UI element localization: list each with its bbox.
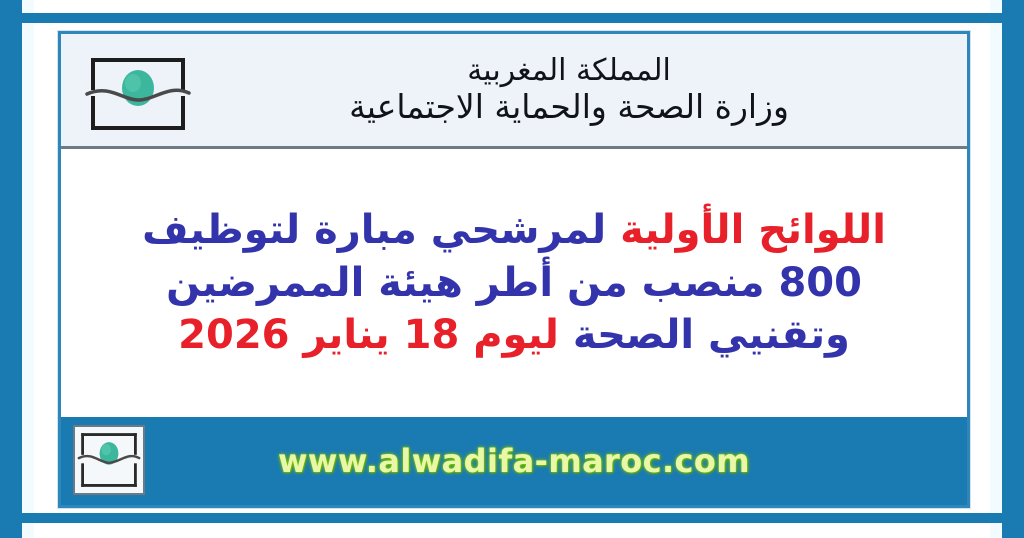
title-line-1-red-segment: اللوائح الأولية: [620, 207, 886, 253]
ministry-title-lines: المملكة المغربية وزارة الصحة والحماية ال…: [61, 56, 967, 124]
title-line-3-red-segment: ليوم 18 يناير 2026: [178, 312, 559, 358]
frame-band-bottom: [22, 513, 1002, 523]
frame-bar-right: [1002, 0, 1024, 538]
title-line-1-blue-segment: لمرشحي مبارة لتوظيف: [142, 207, 606, 253]
site-footer: www.alwadifa-maroc.com: [61, 417, 967, 505]
ministry-line-kingdom: المملكة المغربية: [191, 56, 947, 87]
ministry-header: المملكة المغربية وزارة الصحة والحماية ال…: [61, 34, 967, 149]
announcement-card: المملكة المغربية وزارة الصحة والحماية ال…: [58, 31, 970, 508]
title-line-3: وتقنيي الصحة ليوم 18 يناير 2026: [178, 309, 850, 362]
morocco-health-ministry-crest-icon: [83, 48, 193, 136]
site-url-text[interactable]: www.alwadifa-maroc.com: [278, 442, 750, 480]
announcement-poster: المملكة المغربية وزارة الصحة والحماية ال…: [0, 0, 1024, 538]
title-line-1: اللوائح الأولية لمرشحي مبارة لتوظيف: [142, 204, 886, 257]
announcement-title-block: اللوائح الأولية لمرشحي مبارة لتوظيف 800 …: [61, 149, 967, 417]
ministry-line-department: وزارة الصحة والحماية الاجتماعية: [191, 90, 947, 124]
frame-bar-left: [0, 0, 22, 538]
title-line-2: 800 منصب من أطر هيئة الممرضين: [166, 257, 862, 310]
title-line-3-blue-segment: وتقنيي الصحة: [573, 312, 850, 358]
title-line-2-blue-segment: 800 منصب من أطر هيئة الممرضين: [166, 260, 862, 306]
frame-halo-right: [990, 0, 1002, 538]
alwadifa-crest-icon: [73, 425, 145, 495]
frame-band-top: [22, 13, 1002, 23]
frame-halo-left: [22, 0, 34, 538]
